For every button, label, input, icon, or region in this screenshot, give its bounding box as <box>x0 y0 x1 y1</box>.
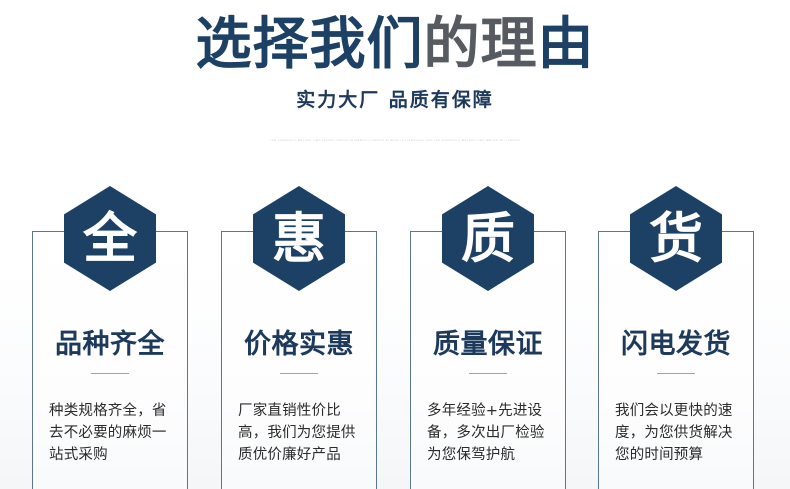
feature-card-description: 种类规格齐全，省去不必要的麻烦一站式采购 <box>49 400 175 466</box>
title-divider <box>657 373 695 374</box>
feature-card-title: 品种齐全 <box>33 328 187 362</box>
hexagon-badge-label: 全 <box>83 207 137 270</box>
decorative-microtext-band: LAB XIANGOU JI MEI KEJI LING FACHU LANGO… <box>148 127 642 141</box>
page-title-segment-gray: 的理 <box>424 12 538 77</box>
page-title-segment-navy-tail: 由 <box>538 12 595 77</box>
hexagon-badge-label: 惠 <box>272 207 326 270</box>
feature-card-description: 厂家直销性价比高，我们为您提供质优价廉好产品 <box>238 400 364 466</box>
promo-banner: 选择我们的理由 实力大厂 品质有保障 LAB XIANGOU JI MEI KE… <box>0 0 790 489</box>
page-title-segment-navy-lead: 选择我们 <box>196 12 424 77</box>
hexagon-badge-label: 货 <box>649 207 703 270</box>
decorative-microtext: LAB XIANGOU JI MEI KEJI LING FACHU LANGO… <box>270 139 521 141</box>
title-divider <box>91 373 129 374</box>
feature-card-description: 我们会以更快的速度，为您供货解决您的时间预算 <box>615 400 741 466</box>
hexagon-badge-label: 质 <box>461 207 515 270</box>
feature-card-description: 多年经验+先进设备，多次出厂检验为您保驾护航 <box>427 400 553 466</box>
page-title: 选择我们的理由 <box>0 14 790 76</box>
banner-header: 选择我们的理由 实力大厂 品质有保障 LAB XIANGOU JI MEI KE… <box>0 0 790 150</box>
title-divider <box>280 373 318 374</box>
title-divider <box>469 373 507 374</box>
page-subtitle: 实力大厂 品质有保障 <box>0 88 790 112</box>
feature-card-list: 品种齐全 种类规格齐全，省去不必要的麻烦一站式采购 全 价格实惠 厂家直销性价比… <box>0 186 790 486</box>
feature-card-title: 闪电发货 <box>599 328 753 362</box>
feature-card-title: 质量保证 <box>411 328 565 362</box>
feature-card-title: 价格实惠 <box>222 328 376 362</box>
